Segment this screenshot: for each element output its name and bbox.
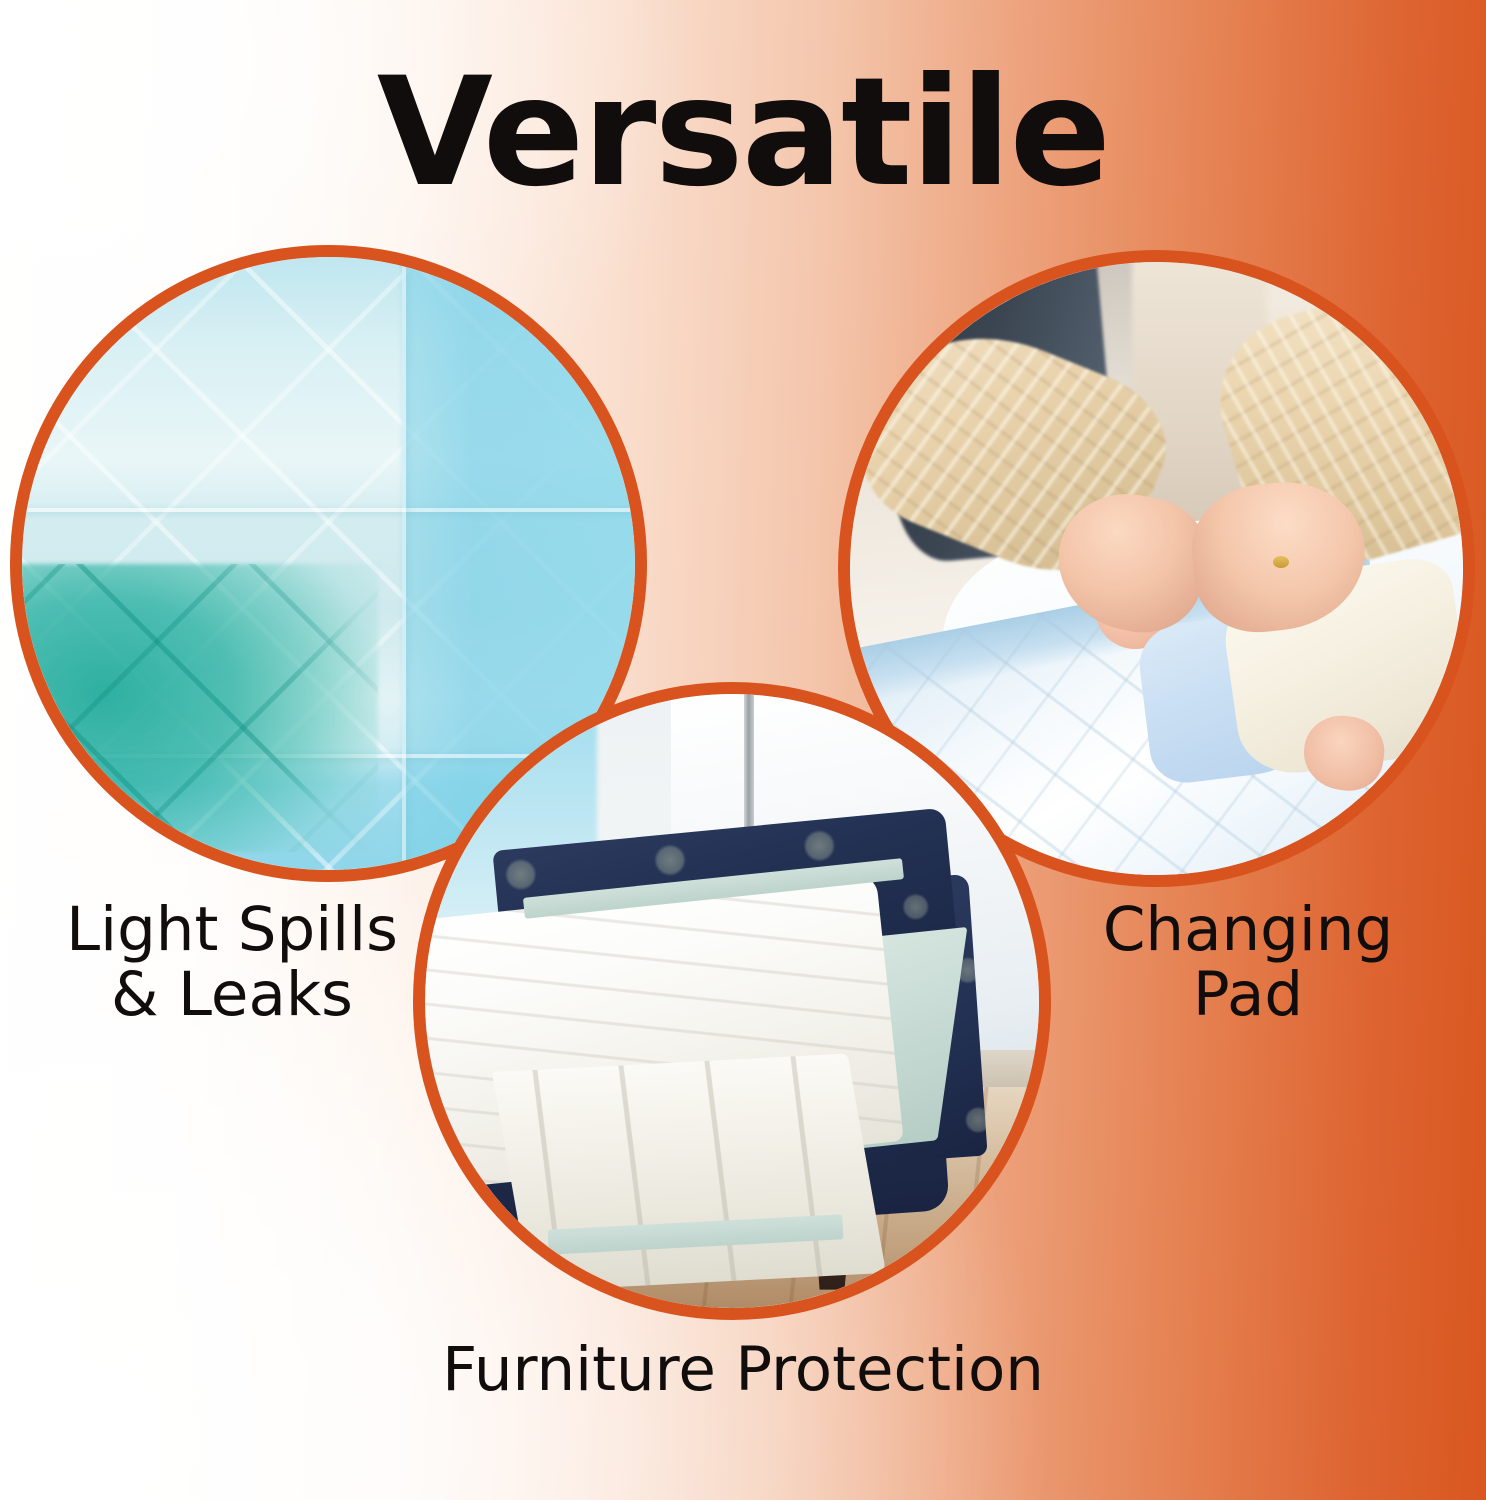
page-title: Versatile <box>0 58 1486 208</box>
feature-circle-furniture-protection <box>413 682 1051 1320</box>
pad-pleat-folds <box>492 1054 886 1292</box>
pad-horizontal-fold-upper <box>22 508 635 512</box>
feature-label-light-spills-leaks: Light Spills & Leaks <box>22 898 442 1027</box>
pad-vertical-fold <box>402 257 406 870</box>
protective-pad-drape <box>492 1054 886 1292</box>
versatile-infographic: Versatile <box>0 0 1486 1500</box>
feature-label-changing-pad: Changing Pad <box>1048 898 1448 1027</box>
teal-stain-quilt-texture <box>22 564 378 852</box>
furniture-protection-photo <box>425 694 1039 1308</box>
feature-label-furniture-protection: Furniture Protection <box>333 1338 1153 1403</box>
